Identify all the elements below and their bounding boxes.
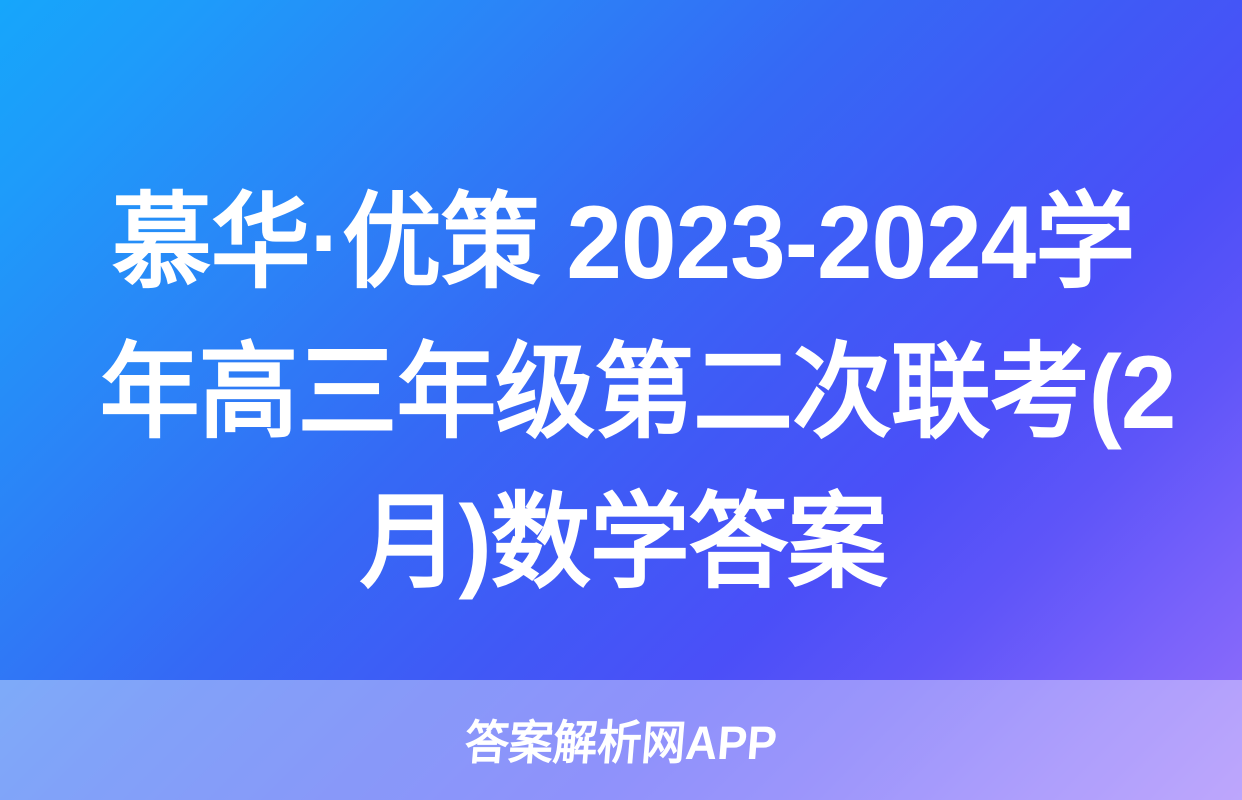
headline-line-3: 月)数学答案 <box>100 468 1146 618</box>
poster-canvas: 慕华·优策 2023-2024学 年高三年级第二次联考(2 月)数学答案 答案解… <box>0 0 1242 800</box>
footer-watermark-text: 答案解析网APP <box>463 719 779 766</box>
headline-block: 慕华·优策 2023-2024学 年高三年级第二次联考(2 月)数学答案 <box>78 168 1168 618</box>
headline-line-2: 年高三年级第二次联考(2 <box>100 318 1146 468</box>
footer-watermark-band: 答案解析网APP <box>0 680 1242 800</box>
headline-line-1: 慕华·优策 2023-2024学 <box>100 168 1146 318</box>
